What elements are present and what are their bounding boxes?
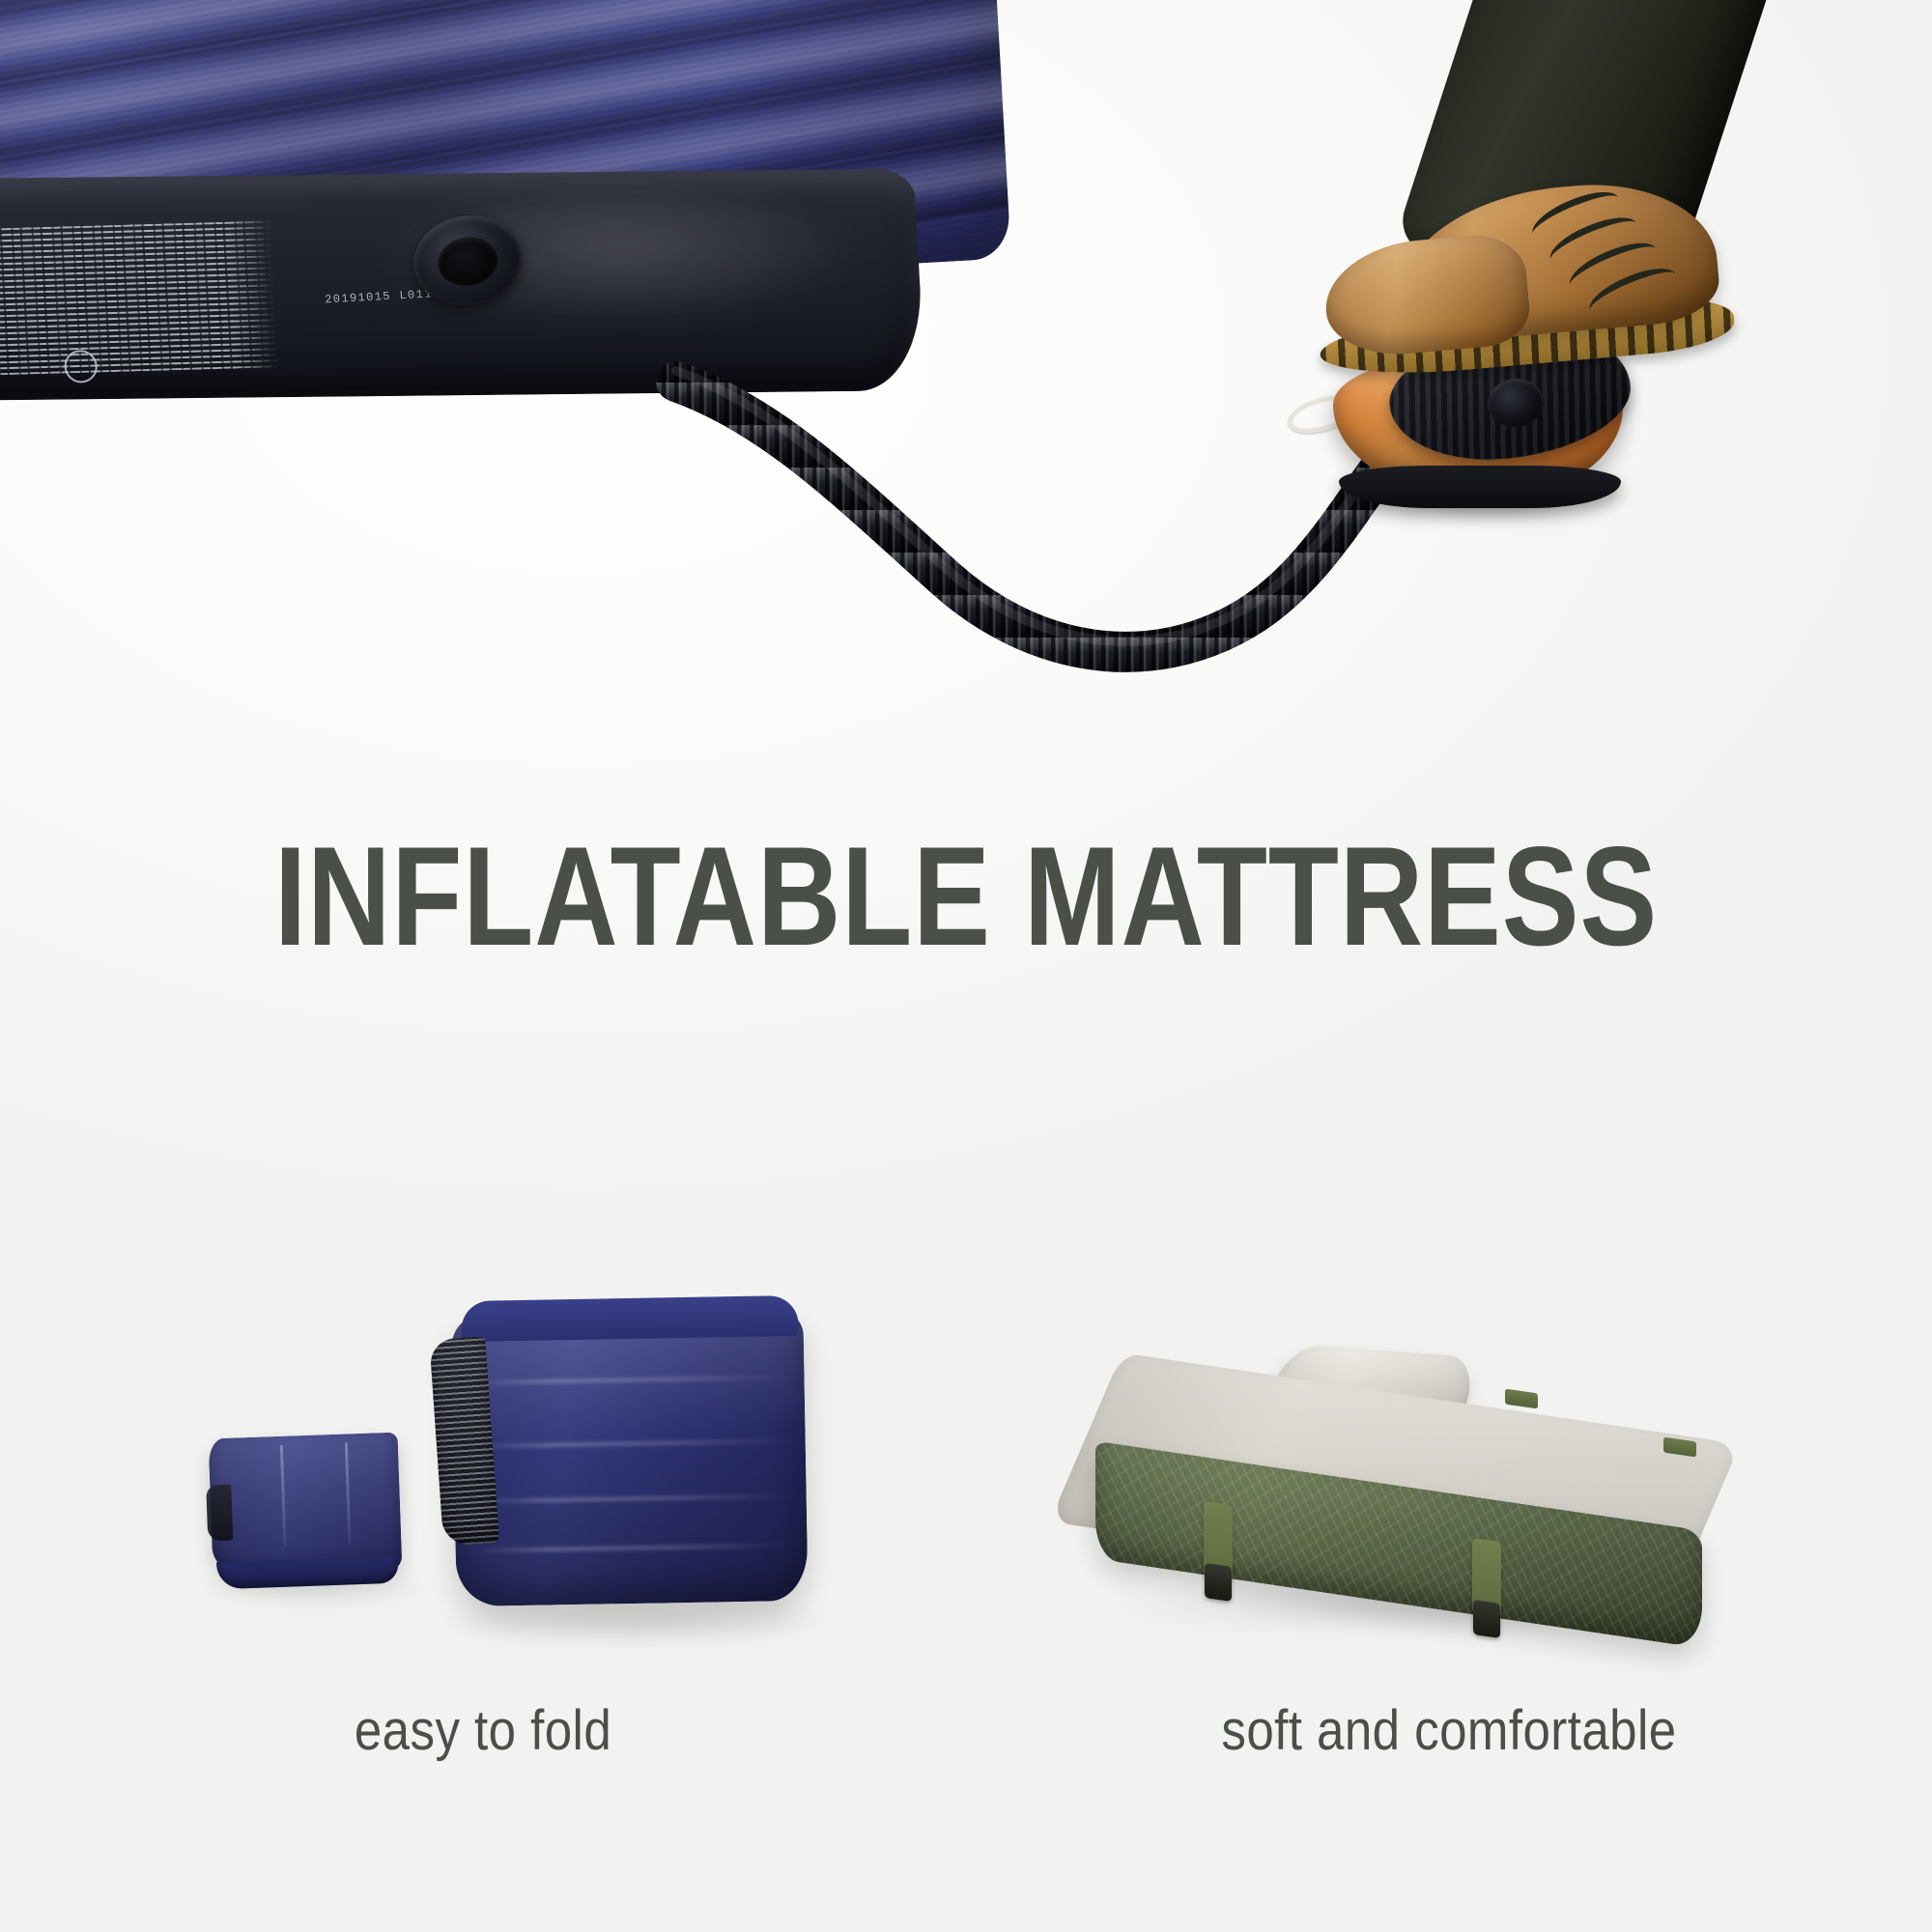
hero-scene: 20191015 L0110 <box>0 0 1932 676</box>
recycle-mark-icon <box>64 350 99 384</box>
product-infographic-page: 20191015 L0110 <box>0 0 1932 1932</box>
page-title: INFLATABLE MATTRESS <box>174 826 1758 967</box>
caption-soft-and-comfortable: soft and comfortable <box>1024 1698 1874 1763</box>
boot-toe <box>1321 231 1532 360</box>
mattress-buckle <box>1205 1563 1232 1602</box>
caption-easy-to-fold: easy to fold <box>58 1698 908 1763</box>
boot-laces <box>1527 182 1721 323</box>
pump-base <box>1339 466 1621 508</box>
feature-easy-to-fold: easy to fold <box>0 1236 966 1855</box>
folded-black-pvc-corner <box>206 1485 233 1542</box>
multilingual-warning-label <box>0 220 279 379</box>
page-title-block: INFLATABLE MATTRESS <box>0 826 1932 967</box>
feature-row: easy to fold soft and comfortable <box>0 1236 1932 1855</box>
mattress-tab <box>1505 1389 1538 1409</box>
mattress-folded-flat <box>209 1433 403 1577</box>
self-inflating-mattress <box>1086 1341 1752 1660</box>
folded-mattress-image <box>0 1236 966 1690</box>
work-boot <box>1299 168 1801 441</box>
self-inflating-mattress-image <box>966 1236 1932 1690</box>
inflatable-mattress-product: 20191015 L0110 <box>0 0 1077 460</box>
feature-soft-and-comfortable: soft and comfortable <box>966 1236 1932 1855</box>
mattress-rolled-bundle <box>451 1311 808 1606</box>
mattress-buckle <box>1473 1600 1500 1638</box>
